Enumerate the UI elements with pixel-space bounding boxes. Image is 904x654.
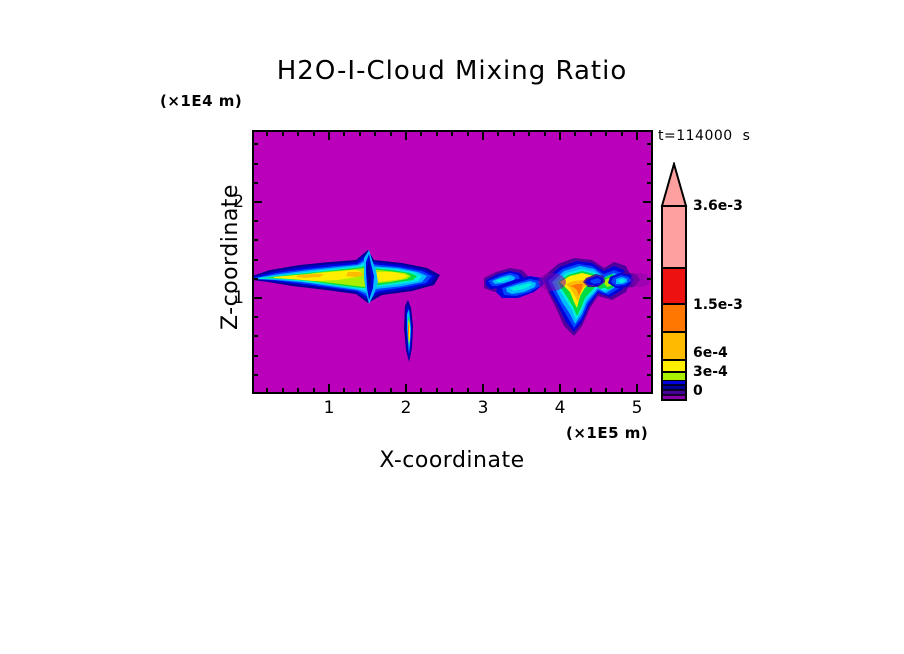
x-tick-label-5: 5 [617,398,657,418]
x-tick-label-4: 4 [540,398,580,418]
colorbar-label-1: 1.5e-3 [693,297,743,313]
y-tick-label-1: 1 [216,288,244,308]
colorbar [660,162,694,402]
colorbar-label-2: 6e-4 [693,345,728,361]
figure-canvas: H2O-I-Cloud Mixing Ratio (×1E4 m) t=1140… [0,0,904,654]
contour-plot-area [252,130,653,394]
x-axis-title: X-coordinate [252,448,652,473]
x-tick-label-2: 2 [386,398,426,418]
colorbar-label-4: 0 [693,383,703,399]
colorbar-bottom-bands [660,380,694,402]
x-axis-units-label: (×1E5 m) [566,424,648,442]
x-tick-label-1: 1 [309,398,349,418]
x-tick-label-3: 3 [463,398,503,418]
colorbar-label-3: 3e-4 [693,364,728,380]
chart-title: H2O-I-Cloud Mixing Ratio [0,56,904,86]
colorbar-segments [662,206,686,398]
y-tick-label-2: 2 [216,192,244,212]
y-axis-units-label: (×1E4 m) [160,92,242,110]
colorbar-top-arrow [662,164,686,206]
colorbar-label-0: 3.6e-3 [693,198,743,214]
time-annotation: t=114000 s [658,128,750,144]
